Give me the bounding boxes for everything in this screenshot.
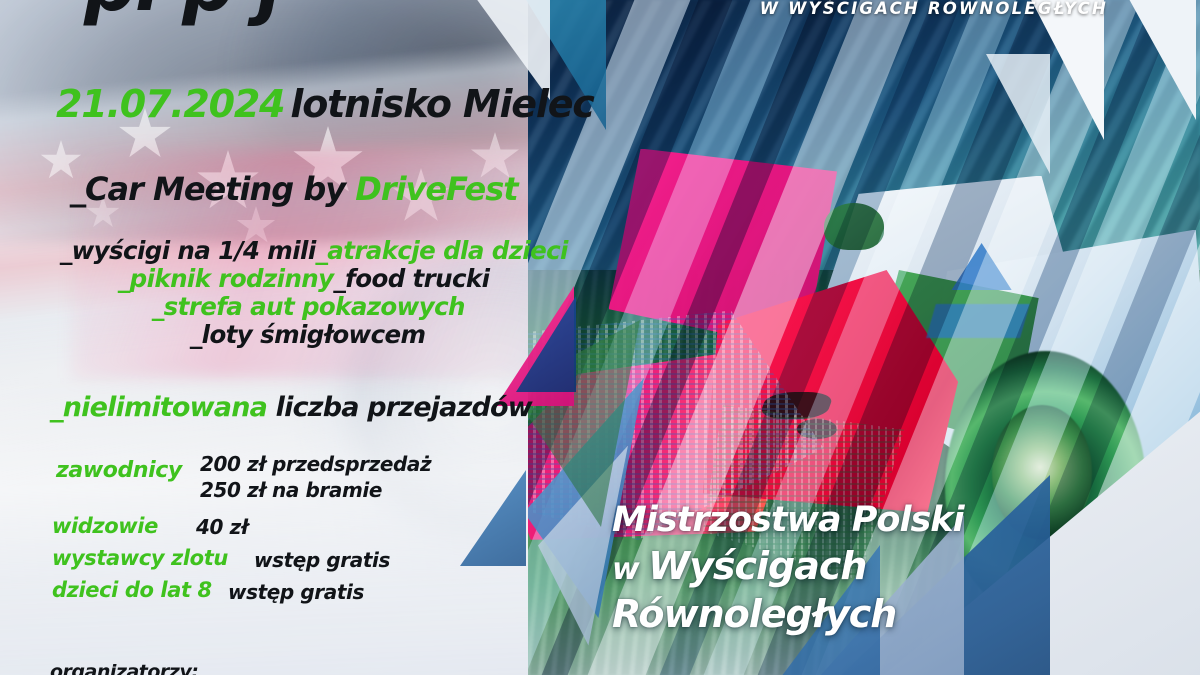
price-label-children: dzieci do lat 8 [52,578,212,602]
feature-4-black: _loty śmigłowcem [190,320,425,349]
championship-title-block: Mistrzostwa Polski w Wyścigach Równoległ… [612,500,964,636]
header-title-cropped: pi p j [84,0,280,28]
championship-line-2: w Wyścigach [612,544,964,588]
feature-1-green: _atrakcje dla dzieci [316,236,568,265]
unlimited-black: liczba przejazdów [267,392,532,423]
car-meeting-prefix: _Car Meeting by [70,170,355,208]
event-venue: lotnisko Mielec [290,82,593,126]
feature-line-4: _loty śmigłowcem [190,320,425,349]
price-label-spectators: widzowie [52,514,158,538]
date-and-venue-line: 21.07.2024lotnisko Mielec [56,82,594,126]
header-subtitle-top-right: W WYŚCIGACH RÓWNOLEGŁYCH [760,0,1108,18]
championship-line-2-big: Wyścigach [648,544,866,588]
price-value-spectators: 40 zł [196,515,248,539]
event-date: 21.07.2024 [56,82,284,126]
price-value-exhibitors: wstęp gratis [254,548,390,572]
price-label-competitors: zawodnicy [56,458,182,483]
feature-3-green: _strefa aut pokazowych [152,292,465,321]
price-value-competitors-gate: 250 zł na bramie [200,478,382,502]
price-value-competitors-presale: 200 zł przedsprzedaż [200,452,431,476]
car-meeting-brand: DriveFest [355,170,517,208]
championship-line-2-small: w [612,552,648,587]
championship-line-1: Mistrzostwa Polski [612,500,964,540]
price-label-exhibitors: wystawcy zlotu [52,546,228,570]
unlimited-green: _nielimitowana [50,392,267,423]
feature-2-black: _food trucki [334,264,490,293]
event-poster: W WYŚCIGACH RÓWNOLEGŁYCH pi p j 21.07.20… [0,0,1200,675]
unlimited-runs-line: _nielimitowana liczba przejazdów [50,392,532,423]
organizers-label: organizatorzy: [50,661,198,675]
championship-line-3: Równoległych [612,592,964,636]
price-value-children: wstęp gratis [228,580,364,604]
feature-1-black: _wyścigi na 1/4 mili [60,236,316,265]
feature-line-2: _piknik rodzinny_food trucki [118,264,489,293]
feature-line-3: _strefa aut pokazowych [152,292,465,321]
car-meeting-line: _Car Meeting by DriveFest [70,170,518,208]
feature-line-1: _wyścigi na 1/4 mili_atrakcje dla dzieci [60,236,568,265]
feature-2-green: _piknik rodzinny [118,264,334,293]
